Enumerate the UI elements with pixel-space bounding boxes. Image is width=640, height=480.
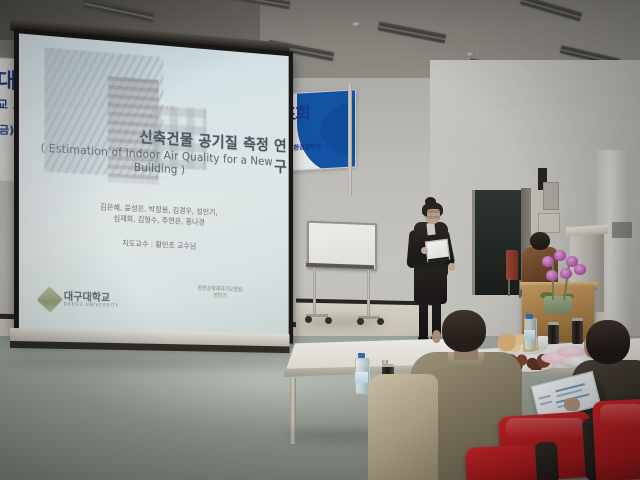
presenter-face-blurred — [427, 209, 440, 222]
person-torso — [368, 374, 438, 480]
orchid-bloom — [574, 264, 586, 275]
logo-text-english: DAEGU UNIVERSITY — [64, 302, 119, 309]
wall-vent — [543, 182, 559, 210]
orchid-pot — [544, 296, 572, 314]
seat-armrest — [535, 441, 559, 480]
person-head — [586, 320, 630, 364]
slide-advisor: 지도교수 : 황민조 교수님 — [39, 234, 275, 254]
bottle-cap — [526, 314, 533, 319]
bottle-label — [524, 330, 535, 339]
ceiling-speaker — [466, 52, 475, 57]
orchid-bloom — [560, 268, 572, 279]
red-chair[interactable] — [506, 250, 518, 280]
wall-base-shadow — [0, 358, 300, 367]
auditorium-seat[interactable] — [465, 444, 541, 480]
slide-footnote: 환경공학과대기오염팀 성민기 — [162, 285, 276, 302]
slide-surface: business 신축건물 공기질 측정 연구 ( Estimation of … — [19, 33, 289, 339]
slide-authors: 김은혜, 윤성운, 박정원, 김경우, 성민기, 심재희, 김형수, 주연은, … — [39, 198, 275, 231]
booklet-text-line — [539, 395, 551, 399]
presenter-right-hand — [448, 263, 455, 271]
wall-panel — [538, 213, 560, 233]
wall-shadow-right — [612, 222, 632, 238]
orchid-bloom — [554, 250, 566, 261]
person-head — [442, 310, 486, 352]
person-ear — [432, 330, 441, 343]
photo-scene: 대 교 . (금) 발표회 표회 구대학교 환경공학과 business 신축건… — [0, 0, 640, 480]
seat-highlight — [600, 404, 640, 426]
beverage-can-top — [382, 364, 394, 367]
presenter-skirt — [414, 270, 447, 304]
left-banner-line3: (금) — [0, 121, 14, 138]
whiteboard-leg — [313, 268, 316, 316]
projection-screen: business 신축건물 공기질 측정 연구 ( Estimation of … — [14, 28, 284, 342]
seat-highlight — [506, 418, 584, 438]
audience-member-foreground-left — [368, 374, 438, 480]
presenter-blouse-collar — [426, 223, 435, 236]
daegu-university-logo-icon — [37, 286, 63, 313]
university-logo: 대구대학교 DAEGU UNIVERSITY — [41, 290, 119, 311]
whiteboard-shadow — [300, 318, 386, 326]
bottle-cap — [358, 353, 365, 358]
booklet-text-line — [540, 401, 552, 405]
orchid-stem — [552, 262, 554, 300]
presenter-papers — [425, 239, 450, 263]
presenter-hair-bun — [425, 197, 436, 206]
chair-leg — [508, 278, 510, 296]
screen-frame: business 신축건물 공기질 측정 연구 ( Estimation of … — [14, 28, 293, 344]
banner-pole — [348, 84, 352, 196]
presenter-left-hand — [421, 247, 428, 254]
whiteboard-leg — [367, 270, 370, 318]
paper-cup[interactable] — [538, 336, 548, 349]
ceiling-speaker — [352, 22, 361, 27]
bottle-label — [355, 372, 368, 383]
person-head — [530, 232, 550, 250]
orchid-bloom — [546, 270, 558, 281]
person-hand — [564, 398, 580, 411]
orchid-bloom — [542, 256, 554, 267]
